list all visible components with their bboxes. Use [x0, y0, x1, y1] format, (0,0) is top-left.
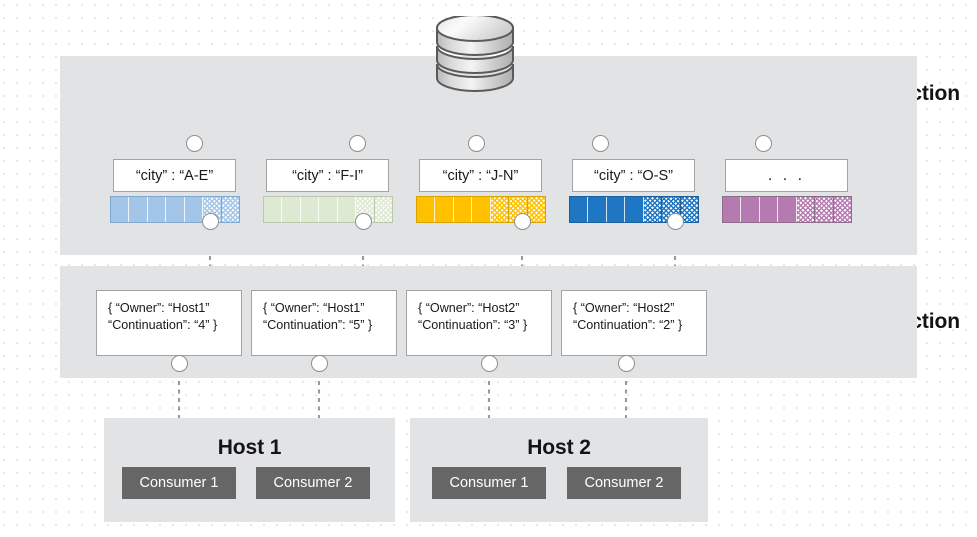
partition-2-cell-empty — [375, 197, 392, 222]
partition-4-cell-filled — [607, 197, 625, 222]
partition-key-label-2: “city” : “F-I” — [292, 168, 363, 184]
connector-dot-partition-3 — [468, 135, 485, 152]
connector-dot-partition-2 — [349, 135, 366, 152]
partition-5-cell-empty — [834, 197, 851, 222]
partition-1-cell-filled — [111, 197, 129, 222]
connector-dot-bar-1 — [202, 213, 219, 230]
partition-key-label-3: “city” : “J-N” — [443, 168, 519, 184]
partition-2-cell-filled — [282, 197, 300, 222]
lease-card-3-line2: “Continuation”: “3” } — [418, 317, 551, 334]
host-1-consumer-2[interactable]: Consumer 2 — [256, 467, 370, 499]
host-2-consumer-2[interactable]: Consumer 2 — [567, 467, 681, 499]
diagram-canvas: Monitored collection — [0, 0, 977, 537]
lease-card-2-line2: “Continuation”: “5” } — [263, 317, 396, 334]
partition-1-cell-filled — [166, 197, 184, 222]
partition-key-card-4[interactable]: “city” : “O-S” — [572, 159, 695, 192]
partition-2-cell-filled — [264, 197, 282, 222]
partition-2-cell-filled — [319, 197, 337, 222]
partition-3-cell-empty — [491, 197, 509, 222]
host-2-consumer-2-label: Consumer 2 — [585, 475, 664, 491]
partition-bar-1[interactable] — [110, 196, 240, 223]
connector-dot-bar-4 — [667, 213, 684, 230]
partition-3-cell-filled — [417, 197, 435, 222]
partition-key-card-5[interactable]: . . . — [725, 159, 848, 192]
partition-4-cell-empty — [644, 197, 662, 222]
partition-key-label-1: “city” : “A-E” — [136, 168, 213, 184]
partition-3-cell-filled — [454, 197, 472, 222]
host-1-title: Host 1 — [104, 436, 395, 460]
connector-dot-bar-3 — [514, 213, 531, 230]
connector-dot-partition-1 — [186, 135, 203, 152]
partition-5-cell-empty — [815, 197, 833, 222]
host-1-consumer-1[interactable]: Consumer 1 — [122, 467, 236, 499]
partition-1-cell-filled — [148, 197, 166, 222]
partition-5-cell-empty — [797, 197, 815, 222]
database-cylinder-icon — [428, 16, 522, 112]
partition-5-cell-filled — [760, 197, 778, 222]
connector-dot-lease-2 — [311, 355, 328, 372]
partition-bar-5[interactable] — [722, 196, 852, 223]
lease-card-2-line1: { “Owner”: “Host1” — [263, 300, 396, 317]
partition-5-cell-filled — [723, 197, 741, 222]
connector-dot-lease-4 — [618, 355, 635, 372]
connector-dot-bar-2 — [355, 213, 372, 230]
partition-3-cell-filled — [472, 197, 490, 222]
partition-key-label-5: . . . — [768, 167, 805, 185]
partition-4-cell-filled — [570, 197, 588, 222]
partition-key-card-2[interactable]: “city” : “F-I” — [266, 159, 389, 192]
lease-card-1-line2: “Continuation”: “4” } — [108, 317, 241, 334]
partition-1-cell-filled — [185, 197, 203, 222]
host-1-consumer-1-label: Consumer 1 — [140, 475, 219, 491]
partition-key-card-3[interactable]: “city” : “J-N” — [419, 159, 542, 192]
lease-card-4-line2: “Continuation”: “2” } — [573, 317, 706, 334]
lease-card-4-line1: { “Owner”: “Host2” — [573, 300, 706, 317]
lease-card-4[interactable]: { “Owner”: “Host2” “Continuation”: “2” } — [561, 290, 707, 356]
connector-dot-lease-1 — [171, 355, 188, 372]
partition-4-cell-filled — [625, 197, 643, 222]
host-1-consumer-2-label: Consumer 2 — [274, 475, 353, 491]
host-2-title: Host 2 — [410, 436, 708, 460]
host-2-consumer-1-label: Consumer 1 — [450, 475, 529, 491]
connector-dot-lease-3 — [481, 355, 498, 372]
partition-3-cell-filled — [435, 197, 453, 222]
partition-bar-2[interactable] — [263, 196, 393, 223]
lease-card-2[interactable]: { “Owner”: “Host1” “Continuation”: “5” } — [251, 290, 397, 356]
partition-2-cell-filled — [338, 197, 356, 222]
partition-1-cell-empty — [222, 197, 239, 222]
partition-5-cell-filled — [778, 197, 796, 222]
partition-key-card-1[interactable]: “city” : “A-E” — [113, 159, 236, 192]
lease-card-3[interactable]: { “Owner”: “Host2” “Continuation”: “3” } — [406, 290, 552, 356]
lease-card-3-line1: { “Owner”: “Host2” — [418, 300, 551, 317]
partition-1-cell-filled — [129, 197, 147, 222]
partition-4-cell-filled — [588, 197, 606, 222]
connector-dot-partition-5 — [755, 135, 772, 152]
host-2-consumer-1[interactable]: Consumer 1 — [432, 467, 546, 499]
partition-2-cell-filled — [301, 197, 319, 222]
partition-5-cell-filled — [741, 197, 759, 222]
connector-dot-partition-4 — [592, 135, 609, 152]
partition-key-label-4: “city” : “O-S” — [594, 168, 673, 184]
lease-card-1[interactable]: { “Owner”: “Host1” “Continuation”: “4” } — [96, 290, 242, 356]
lease-card-1-line1: { “Owner”: “Host1” — [108, 300, 241, 317]
